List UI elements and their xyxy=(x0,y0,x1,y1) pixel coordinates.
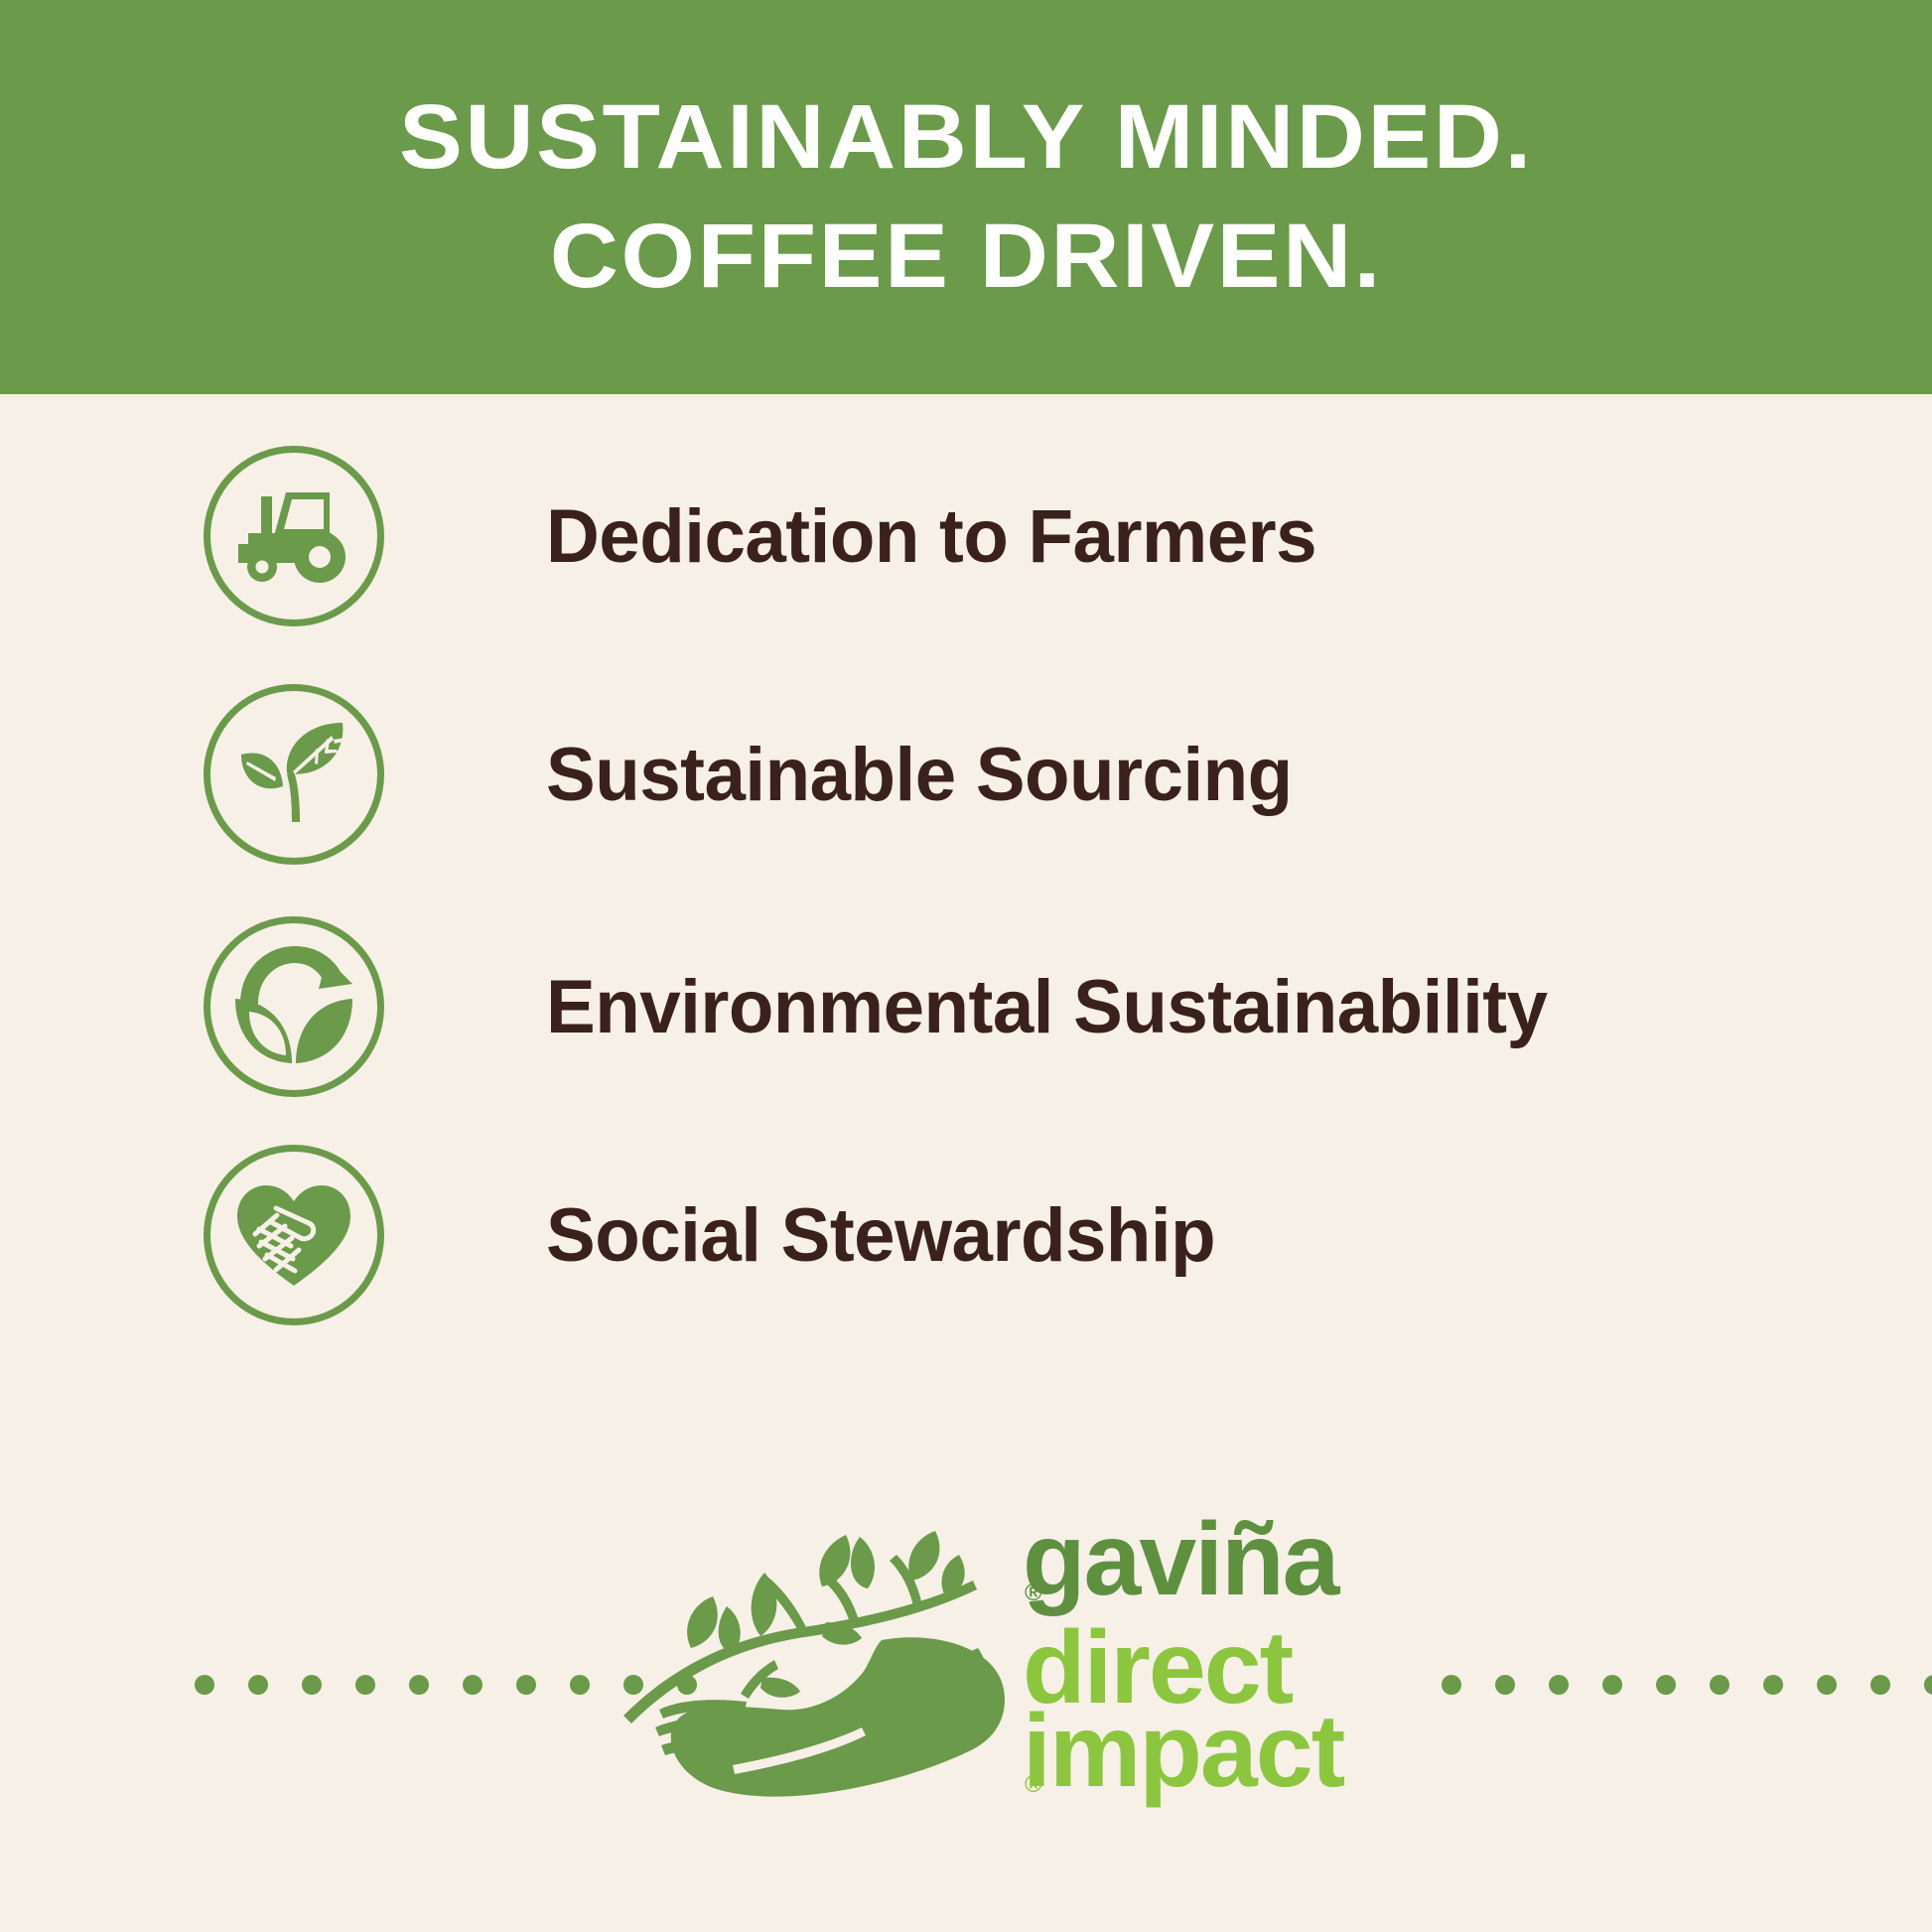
divider-dot xyxy=(1763,1675,1783,1695)
divider-dot xyxy=(302,1675,322,1695)
divider-dot xyxy=(1442,1675,1461,1695)
divider-dot xyxy=(570,1675,590,1695)
feature-item-social-stewardship[interactable]: Social Stewardship xyxy=(0,1141,1932,1329)
feature-label: Social Stewardship xyxy=(546,1192,1215,1279)
brand-wordmark: gaviña® direct impact® xyxy=(1023,1519,1343,1819)
divider-dot xyxy=(516,1675,536,1695)
feature-label: Dedication to Farmers xyxy=(546,493,1316,580)
tagline-row-2: impact® xyxy=(1023,1711,1343,1819)
feature-item-dedication-to-farmers[interactable]: Dedication to Farmers xyxy=(0,442,1932,630)
feature-label: Sustainable Sourcing xyxy=(546,732,1293,818)
feature-item-environmental-sustainability[interactable]: Environmental Sustainability xyxy=(0,912,1932,1101)
handshake-heart-icon xyxy=(204,1145,384,1325)
divider-dot xyxy=(195,1675,214,1695)
feature-label: Environmental Sustainability xyxy=(546,964,1548,1050)
divider-dot xyxy=(1549,1675,1569,1695)
recycle-leaves-icon xyxy=(204,916,384,1097)
divider-dot xyxy=(1495,1675,1515,1695)
tractor-icon xyxy=(204,446,384,626)
divider-dot xyxy=(355,1675,375,1695)
divider-dot xyxy=(248,1675,268,1695)
feature-item-sustainable-sourcing[interactable]: Sustainable Sourcing xyxy=(0,680,1932,869)
divider-dot xyxy=(463,1675,483,1695)
divider-dots-right xyxy=(1442,1675,1932,1695)
divider-dot xyxy=(1870,1675,1890,1695)
brand-registered-mark: ® xyxy=(1025,1580,1042,1606)
divider-dot xyxy=(1656,1675,1676,1695)
headline-line-2: COFFEE DRIVEN. xyxy=(549,198,1382,317)
divider-dot xyxy=(1710,1675,1729,1695)
tagline-impact: impact xyxy=(1023,1711,1343,1793)
sprout-leaf-icon xyxy=(204,684,384,865)
hand-holding-coffee-branch-icon xyxy=(616,1489,1013,1832)
divider-dot xyxy=(1817,1675,1837,1695)
divider-dot xyxy=(1924,1675,1932,1695)
divider-dot xyxy=(409,1675,429,1695)
divider-dot xyxy=(1602,1675,1622,1695)
headline-line-1: SUSTAINABLY MINDED. xyxy=(399,78,1534,198)
brand-name: gaviña xyxy=(1023,1519,1337,1601)
poster-canvas: SUSTAINABLY MINDED. COFFEE DRIVEN. xyxy=(0,0,1932,1932)
brand-logo-lockup[interactable]: gaviña® direct impact® xyxy=(616,1479,1330,1857)
header-banner: SUSTAINABLY MINDED. COFFEE DRIVEN. xyxy=(0,0,1932,394)
tagline-registered-mark: ® xyxy=(1025,1771,1042,1798)
